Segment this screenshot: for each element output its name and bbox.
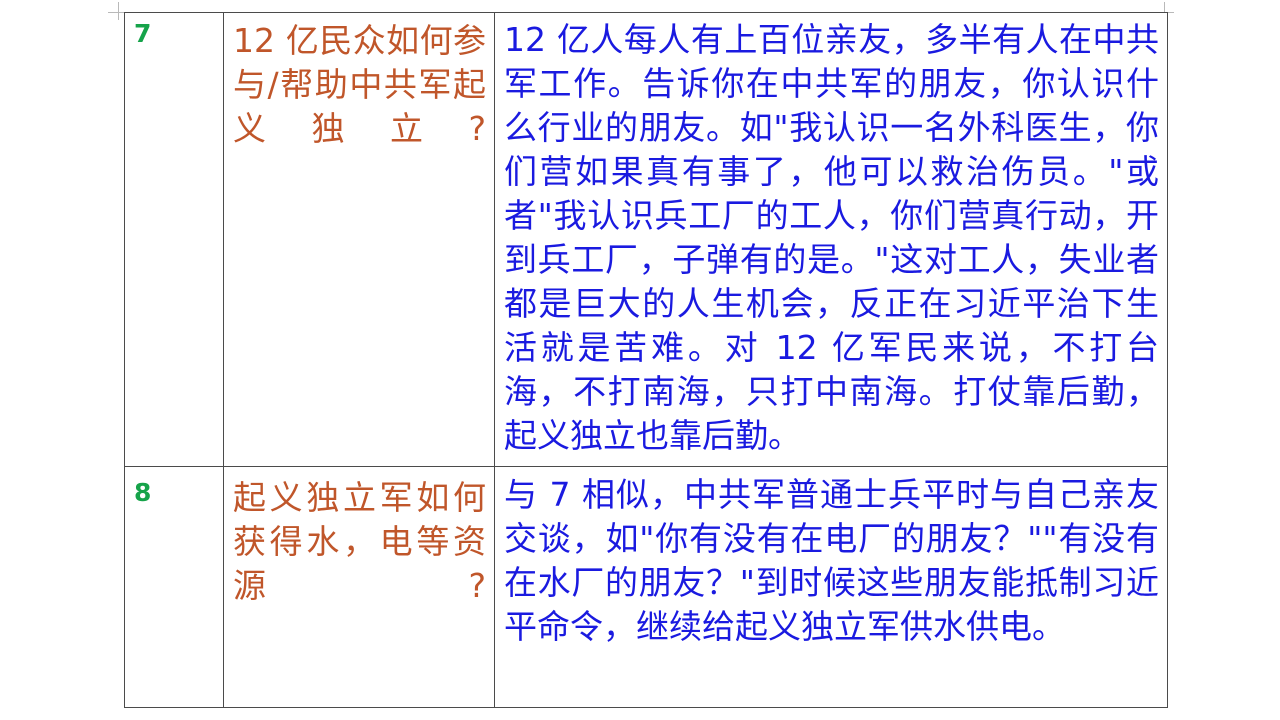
question-cell: 12 亿民众如何参与/帮助中共军起义独立? (224, 13, 495, 467)
answer-text: 12 亿人每人有上百位亲友，多半有人在中共军工作。告诉你在中共军的朋友，你认识什… (504, 18, 1159, 458)
question-text: 12 亿民众如何参与/帮助中共军起义独立? (233, 19, 486, 195)
row-number-cell: 8 (125, 467, 224, 708)
answer-cell: 12 亿人每人有上百位亲友，多半有人在中共军工作。告诉你在中共军的朋友，你认识什… (495, 13, 1168, 467)
row-number-cell: 7 (125, 13, 224, 467)
document-page: 7 12 亿民众如何参与/帮助中共军起义独立? 12 亿人每人有上百位亲友，多半… (0, 0, 1280, 720)
question-text: 起义独立军如何获得水，电等资源? (233, 476, 486, 652)
answer-cell: 与 7 相似，中共军普通士兵平时与自己亲友交谈，如"你有没有在电厂的朋友？""有… (495, 467, 1168, 708)
answer-text: 与 7 相似，中共军普通士兵平时与自己亲友交谈，如"你有没有在电厂的朋友？""有… (504, 473, 1159, 649)
table-row: 7 12 亿民众如何参与/帮助中共军起义独立? 12 亿人每人有上百位亲友，多半… (125, 13, 1168, 467)
row-number: 8 (134, 478, 151, 507)
row-number: 7 (134, 19, 151, 48)
table-row: 8 起义独立军如何获得水，电等资源? 与 7 相似，中共军普通士兵平时与自己亲友… (125, 467, 1168, 708)
qa-table: 7 12 亿民众如何参与/帮助中共军起义独立? 12 亿人每人有上百位亲友，多半… (124, 12, 1168, 708)
question-cell: 起义独立军如何获得水，电等资源? (224, 467, 495, 708)
